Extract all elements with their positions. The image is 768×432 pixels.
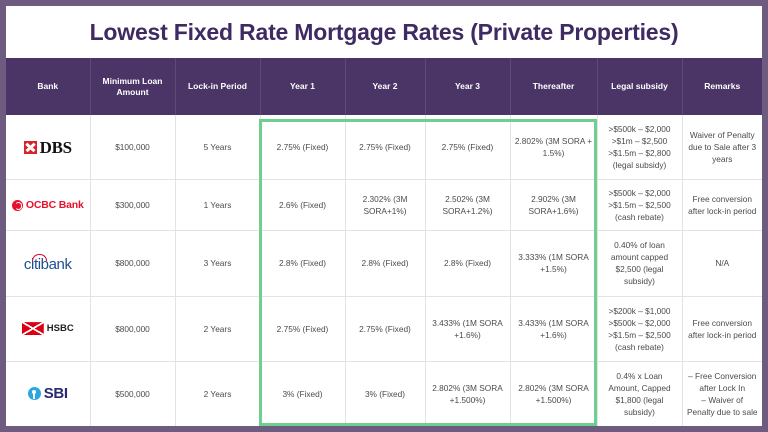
lock-in-cell: 1 Years — [175, 180, 260, 231]
year1-cell: 2.8% (Fixed) — [260, 231, 345, 296]
column-header-lock-in-period: Lock-in Period — [175, 58, 260, 115]
remarks-cell: Waiver of Penalty due to Sale after 3 ye… — [682, 115, 762, 180]
bank-cell: OCBC Bank — [6, 180, 90, 231]
bank-cell: citibank — [6, 231, 90, 296]
thereafter-cell: 3.433% (1M SORA +1.6%) — [510, 296, 597, 361]
table-row: citibank $800,000 3 Years 2.8% (Fixed) 2… — [6, 231, 762, 296]
remarks-cell: N/A — [682, 231, 762, 296]
lock-in-cell: 5 Years — [175, 115, 260, 180]
year2-cell: 2.75% (Fixed) — [345, 296, 425, 361]
mortgage-rates-table-page: Lowest Fixed Rate Mortgage Rates (Privat… — [0, 0, 768, 432]
column-header-year-3: Year 3 — [425, 58, 510, 115]
dbs-wordmark: DBS — [40, 139, 72, 156]
year3-cell: 2.802% (3M SORA +1.500%) — [425, 361, 510, 426]
year1-cell: 2.75% (Fixed) — [260, 115, 345, 180]
remarks-cell: – Free Conversion after Lock In – Waiver… — [682, 361, 762, 426]
column-header-remarks: Remarks — [682, 58, 762, 115]
min-loan-cell: $800,000 — [90, 296, 175, 361]
year1-cell: 3% (Fixed) — [260, 361, 345, 426]
table-header: Bank Minimum Loan Amount Lock-in Period … — [6, 58, 762, 115]
year3-cell: 3.433% (1M SORA +1.6%) — [425, 296, 510, 361]
lock-in-cell: 2 Years — [175, 361, 260, 426]
year3-cell: 2.8% (Fixed) — [425, 231, 510, 296]
citibank-wordmark: citibank — [24, 254, 72, 272]
column-header-year-1: Year 1 — [260, 58, 345, 115]
min-loan-cell: $100,000 — [90, 115, 175, 180]
ocbc-wordmark: OCBC Bank — [26, 200, 84, 211]
column-header-year-2: Year 2 — [345, 58, 425, 115]
column-header-thereafter: Thereafter — [510, 58, 597, 115]
bank-cell: SBI — [6, 361, 90, 426]
min-loan-cell: $300,000 — [90, 180, 175, 231]
year2-cell: 2.302% (3M SORA+1%) — [345, 180, 425, 231]
citibank-logo: citibank — [10, 254, 86, 272]
legal-subsidy-cell: >$200k – $1,000 >$500k – $2,000 >$1.5m –… — [597, 296, 682, 361]
table-body: DBS $100,000 5 Years 2.75% (Fixed) 2.75%… — [6, 115, 762, 426]
table-header-row: Bank Minimum Loan Amount Lock-in Period … — [6, 58, 762, 115]
hsbc-logo: HSBC — [10, 322, 86, 335]
ocbc-logo: OCBC Bank — [10, 200, 86, 211]
remarks-cell: Free conversion after lock-in period — [682, 180, 762, 231]
bank-cell: DBS — [6, 115, 90, 180]
dbs-logo: DBS — [10, 139, 86, 156]
thereafter-cell: 2.802% (3M SORA +1.500%) — [510, 361, 597, 426]
remarks-cell: Free conversion after lock-in period — [682, 296, 762, 361]
year1-cell: 2.6% (Fixed) — [260, 180, 345, 231]
column-header-minimum-loan-amount: Minimum Loan Amount — [90, 58, 175, 115]
year2-cell: 2.75% (Fixed) — [345, 115, 425, 180]
table-row: OCBC Bank $300,000 1 Years 2.6% (Fixed) … — [6, 180, 762, 231]
legal-subsidy-cell: 0.40% of loan amount capped $2,500 (lega… — [597, 231, 682, 296]
ocbc-mark-icon — [12, 200, 23, 211]
lock-in-cell: 2 Years — [175, 296, 260, 361]
sbi-keyhole-icon — [28, 387, 41, 400]
year2-cell: 2.8% (Fixed) — [345, 231, 425, 296]
legal-subsidy-cell: >$500k – $2,000 >$1.5m – $2,500 (cash re… — [597, 180, 682, 231]
lock-in-cell: 3 Years — [175, 231, 260, 296]
sbi-wordmark: SBI — [44, 386, 68, 401]
table-row: DBS $100,000 5 Years 2.75% (Fixed) 2.75%… — [6, 115, 762, 180]
legal-subsidy-cell: >$500k – $2,000 >$1m – $2,500 >$1.5m – $… — [597, 115, 682, 180]
sbi-logo: SBI — [10, 386, 86, 401]
page-title: Lowest Fixed Rate Mortgage Rates (Privat… — [90, 19, 679, 46]
table-row: SBI $500,000 2 Years 3% (Fixed) 3% (Fixe… — [6, 361, 762, 426]
page-title-bar: Lowest Fixed Rate Mortgage Rates (Privat… — [6, 6, 762, 58]
legal-subsidy-cell: 0.4% x Loan Amount, Capped $1,800 (legal… — [597, 361, 682, 426]
year1-cell: 2.75% (Fixed) — [260, 296, 345, 361]
year3-cell: 2.502% (3M SORA+1.2%) — [425, 180, 510, 231]
year2-cell: 3% (Fixed) — [345, 361, 425, 426]
hsbc-hexagon-icon — [22, 322, 44, 335]
mortgage-rates-table: Bank Minimum Loan Amount Lock-in Period … — [6, 58, 762, 426]
column-header-bank: Bank — [6, 58, 90, 115]
hsbc-wordmark: HSBC — [47, 324, 74, 334]
citibank-arc-icon — [32, 254, 47, 261]
thereafter-cell: 2.802% (3M SORA + 1.5%) — [510, 115, 597, 180]
column-header-legal-subsidy: Legal subsidy — [597, 58, 682, 115]
year3-cell: 2.75% (Fixed) — [425, 115, 510, 180]
bank-cell: HSBC — [6, 296, 90, 361]
thereafter-cell: 3.333% (1M SORA +1.5%) — [510, 231, 597, 296]
min-loan-cell: $800,000 — [90, 231, 175, 296]
dbs-mark-icon — [24, 141, 37, 154]
thereafter-cell: 2.902% (3M SORA+1.6%) — [510, 180, 597, 231]
min-loan-cell: $500,000 — [90, 361, 175, 426]
table-row: HSBC $800,000 2 Years 2.75% (Fixed) 2.75… — [6, 296, 762, 361]
